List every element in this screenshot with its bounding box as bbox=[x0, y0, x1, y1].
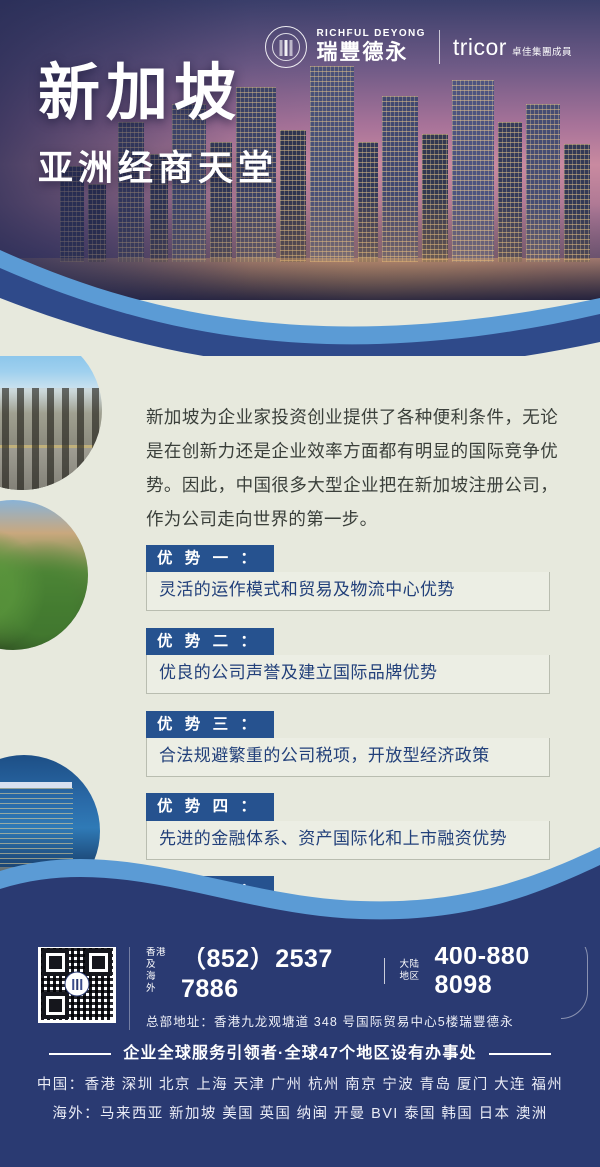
waterfront bbox=[0, 258, 600, 300]
rule-left bbox=[49, 1053, 111, 1055]
advantage-tag: 优 势 四 ： bbox=[146, 793, 274, 820]
brand-logo: RICHFUL DEYONG 瑞豐德永 tricor 卓佳集團成員 bbox=[265, 26, 572, 68]
phone-divider bbox=[384, 958, 386, 984]
locations-china: 中国：香港 深圳 北京 上海 天津 广州 杭州 南京 宁波 青岛 厦门 大连 福… bbox=[0, 1073, 600, 1094]
decorative-bracket bbox=[561, 931, 588, 1019]
partner-logo: tricor 卓佳集團成員 bbox=[453, 36, 572, 59]
locations-overseas: 海外：马来西亚 新加坡 美国 英国 纳闽 开曼 BVI 泰国 韩国 日本 澳洲 bbox=[0, 1102, 600, 1123]
footer-tagline: 企业全球服务引领者·全球47个地区设有办事处 bbox=[0, 1039, 600, 1063]
advantage-tag: 优 势 一 ： bbox=[146, 545, 274, 572]
advantage-item: 优 势 一 ： 灵活的运作模式和贸易及物流中心优势 bbox=[146, 545, 550, 611]
advantage-text: 先进的金融体系、资产国际化和上市融资优势 bbox=[146, 821, 550, 860]
hk-phone-label: 香港及 海 外 bbox=[146, 947, 172, 995]
page-subtitle: 亚洲经商天堂 bbox=[38, 140, 278, 191]
qr-center-logo-icon bbox=[65, 972, 90, 997]
partner-name: tricor bbox=[453, 36, 507, 59]
advantage-text: 合法规避繁重的公司税项，开放型经济政策 bbox=[146, 738, 550, 777]
marina-bay-sands-photo bbox=[0, 755, 100, 907]
head-office-address: 总部地址：香港九龙观塘道 348 号国际贸易中心5楼瑞豐德永 bbox=[146, 1011, 574, 1030]
intro-paragraph: 新加坡为企业家投资创业提供了各种便利条件，无论是在创新力还是企业效率方面都有明显… bbox=[146, 400, 558, 537]
advantage-tag: 优 势 二 ： bbox=[146, 628, 274, 655]
phone-row: 香港及 海 外 （852）2537 7886 大陆 地区 400-880 809… bbox=[146, 939, 574, 1004]
rule-right bbox=[489, 1053, 551, 1055]
advantage-tag: 优 势 三 ： bbox=[146, 711, 274, 738]
advantage-text: 优良的公司声誉及建立国际品牌优势 bbox=[146, 655, 550, 694]
tagline-text: 企业全球服务引领者·全球47个地区设有办事处 bbox=[123, 1045, 477, 1062]
brand-english: RICHFUL DEYONG bbox=[316, 29, 425, 39]
hk-phone-number[interactable]: （852）2537 7886 bbox=[181, 939, 370, 1004]
partner-name-cn: 卓佳集團成員 bbox=[512, 44, 572, 58]
wechat-qr-code[interactable] bbox=[38, 945, 116, 1023]
brand-chinese: 瑞豐德永 bbox=[316, 41, 425, 65]
cn-phone-label: 大陆 地区 bbox=[399, 959, 425, 983]
company-seal-icon bbox=[265, 26, 307, 68]
page-title: 新加坡 bbox=[38, 62, 278, 126]
advantage-text: 灵活的运作模式和贸易及物流中心优势 bbox=[146, 572, 550, 611]
advantage-item: 优 势 二 ： 优良的公司声誉及建立国际品牌优势 bbox=[146, 628, 550, 694]
footer: 香港及 海 外 （852）2537 7886 大陆 地区 400-880 809… bbox=[0, 927, 600, 1167]
green-city-photo bbox=[0, 500, 88, 650]
phone-and-address: 香港及 海 外 （852）2537 7886 大陆 地区 400-880 809… bbox=[129, 939, 574, 1030]
city-glow bbox=[0, 190, 600, 300]
advantage-item: 优 势 四 ： 先进的金融体系、资产国际化和上市融资优势 bbox=[146, 793, 550, 859]
cn-phone-number[interactable]: 400-880 8098 bbox=[434, 942, 574, 1000]
brand-name-block: RICHFUL DEYONG 瑞豐德永 bbox=[316, 29, 425, 65]
title-block: 新加坡 亚洲经商天堂 bbox=[38, 62, 278, 191]
logo-divider bbox=[439, 30, 440, 64]
advantage-item: 优 势 三 ： 合法规避繁重的公司税项，开放型经济政策 bbox=[146, 711, 550, 777]
poster-root: 新加坡 亚洲经商天堂 RICHFUL DEYONG 瑞豐德永 tricor 卓佳… bbox=[0, 0, 600, 1167]
advantages-list: 优 势 一 ： 灵活的运作模式和贸易及物流中心优势 优 势 二 ： 优良的公司声… bbox=[146, 545, 550, 959]
shophouse-street-photo bbox=[0, 330, 102, 490]
contact-block: 香港及 海 外 （852）2537 7886 大陆 地区 400-880 809… bbox=[38, 945, 574, 1023]
hero-banner: 新加坡 亚洲经商天堂 RICHFUL DEYONG 瑞豐德永 tricor 卓佳… bbox=[0, 0, 600, 300]
advantage-tag: 优 势 五 ： bbox=[146, 876, 274, 903]
